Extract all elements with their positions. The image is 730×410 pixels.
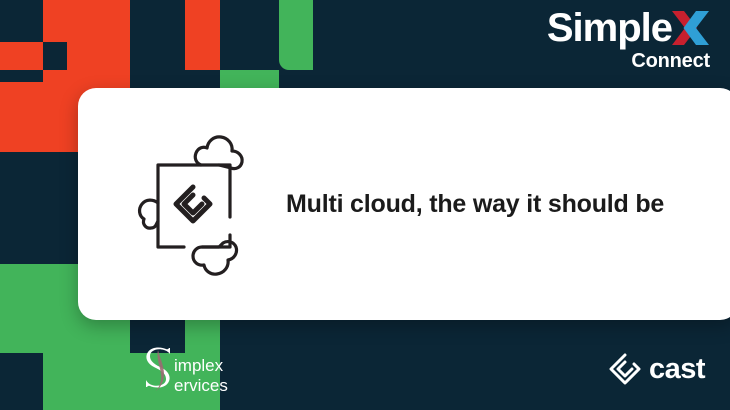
simplex-services-line1: implex (174, 356, 224, 375)
mosaic-block (279, 0, 313, 70)
brand-name-text: Simple (547, 8, 672, 48)
mosaic-block (67, 42, 130, 70)
mosaic-block (43, 353, 130, 410)
content-card: Multi cloud, the way it should be (78, 88, 730, 320)
cast-hexagon-spiral-icon (608, 352, 642, 386)
mosaic-block (0, 152, 43, 264)
cast-wordmark: cast (649, 355, 705, 384)
mosaic-block (220, 0, 279, 70)
mosaic-block (0, 0, 43, 42)
simplex-services-logo: implex ervices (138, 344, 248, 402)
mosaic-block (0, 70, 43, 82)
mosaic-block (185, 0, 220, 70)
mosaic-block (43, 0, 130, 42)
mosaic-block (0, 42, 43, 70)
multi-cloud-icon (118, 129, 268, 279)
brand-wordmark: Simple (547, 8, 712, 48)
mosaic-block (220, 70, 279, 88)
brand-subtitle: Connect (547, 51, 712, 71)
card-headline: Multi cloud, the way it should be (286, 190, 664, 219)
mosaic-block (0, 353, 43, 410)
mosaic-block (0, 264, 43, 353)
mosaic-block (130, 0, 185, 70)
cast-logo: cast (608, 352, 705, 386)
mosaic-block (0, 82, 43, 152)
simplex-services-line2: ervices (174, 376, 228, 395)
presentation-slide: Simple Connect (0, 0, 730, 410)
simplex-x-icon (670, 8, 712, 48)
simplex-connect-logo: Simple Connect (547, 8, 712, 71)
